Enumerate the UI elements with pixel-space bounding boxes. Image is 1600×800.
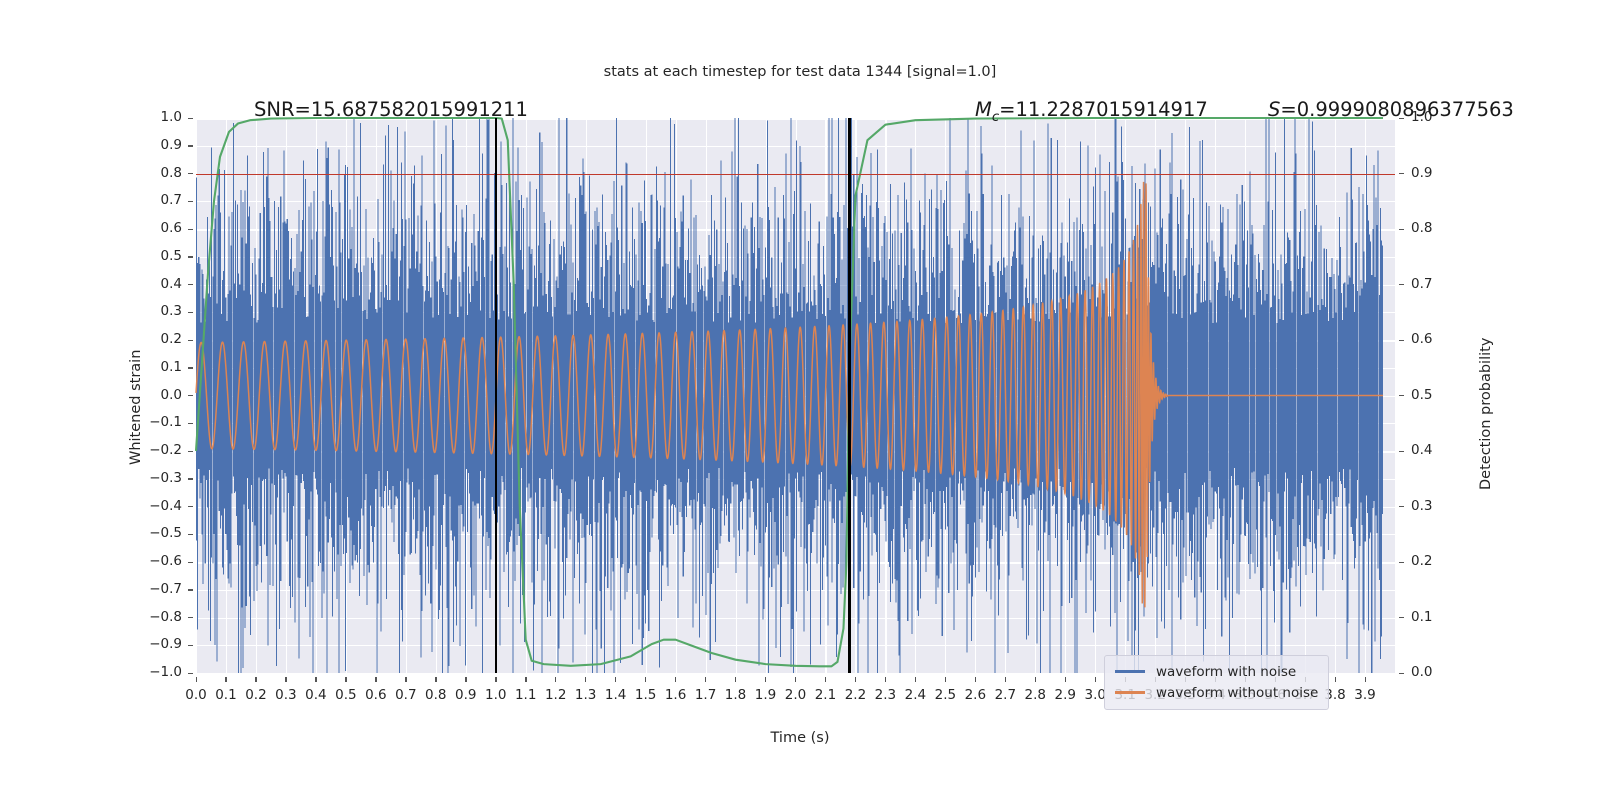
- figure-canvas: stats at each timestep for test data 134…: [0, 0, 1600, 800]
- y-tick-mark-left: [188, 256, 193, 257]
- x-tick-mark: [795, 677, 796, 682]
- y-tick-label-left: 0.8: [134, 165, 182, 181]
- x-tick-mark: [615, 677, 616, 682]
- x-tick-mark: [285, 677, 286, 682]
- x-tick-mark: [885, 677, 886, 682]
- y-tick-mark-right: [1399, 451, 1404, 452]
- x-tick-mark: [975, 677, 976, 682]
- y-tick-mark-left: [188, 284, 193, 285]
- vertical-marker-line: [495, 118, 497, 673]
- y-tick-mark-left: [188, 451, 193, 452]
- y-tick-label-left: 0.6: [134, 220, 182, 236]
- legend-item[interactable]: waveform without noise: [1115, 682, 1318, 703]
- x-tick-mark: [405, 677, 406, 682]
- y-tick-label-left: 0.5: [134, 248, 182, 264]
- y-tick-mark-right: [1399, 173, 1404, 174]
- y-tick-label-left: −0.3: [134, 470, 182, 486]
- x-tick-label: 3.9: [1340, 687, 1390, 703]
- chart-title: stats at each timestep for test data 134…: [0, 64, 1600, 80]
- y-tick-mark-left: [188, 367, 193, 368]
- y-tick-mark-left: [188, 617, 193, 618]
- x-tick-mark: [465, 677, 466, 682]
- y-tick-mark-right: [1399, 617, 1404, 618]
- y-tick-label-left: −0.5: [134, 525, 182, 541]
- y-tick-label-right: 0.1: [1411, 609, 1432, 625]
- y-tick-mark-left: [188, 673, 193, 674]
- x-tick-mark: [255, 677, 256, 682]
- x-tick-mark: [375, 677, 376, 682]
- y-tick-label-left: −0.1: [134, 414, 182, 430]
- y-tick-label-left: −0.8: [134, 609, 182, 625]
- legend-label: waveform with noise: [1156, 664, 1296, 680]
- x-tick-mark: [915, 677, 916, 682]
- x-tick-mark: [345, 677, 346, 682]
- x-tick-mark: [196, 677, 197, 682]
- y-tick-label-left: −0.9: [134, 636, 182, 652]
- y-tick-mark-left: [188, 340, 193, 341]
- y-tick-label-right: 0.0: [1411, 664, 1432, 680]
- y-tick-label-left: 0.1: [134, 359, 182, 375]
- y-tick-label-left: 0.7: [134, 192, 182, 208]
- x-tick-mark: [765, 677, 766, 682]
- x-tick-mark: [675, 677, 676, 682]
- y-tick-label-right: 0.7: [1411, 276, 1432, 292]
- y-tick-mark-left: [188, 395, 193, 396]
- threshold-line: [196, 174, 1395, 176]
- y-tick-mark-left: [188, 145, 193, 146]
- x-tick-mark: [1065, 677, 1066, 682]
- legend-item[interactable]: waveform with noise: [1115, 661, 1318, 682]
- y-tick-mark-left: [188, 229, 193, 230]
- x-tick-mark: [945, 677, 946, 682]
- y-tick-label-right: 0.4: [1411, 442, 1432, 458]
- y-tick-mark-left: [188, 478, 193, 479]
- x-tick-mark: [825, 677, 826, 682]
- y-tick-label-right: 0.3: [1411, 498, 1432, 514]
- x-tick-mark: [645, 677, 646, 682]
- x-tick-mark: [1335, 677, 1336, 682]
- legend-color-swatch: [1115, 670, 1145, 672]
- y-tick-label-left: 0.9: [134, 137, 182, 153]
- y-tick-mark-right: [1399, 562, 1404, 563]
- y-tick-label-left: 0.0: [134, 387, 182, 403]
- vertical-marker-line: [848, 118, 850, 673]
- y-tick-label-right: 0.8: [1411, 220, 1432, 236]
- y-tick-mark-right: [1399, 284, 1404, 285]
- y-tick-mark-left: [188, 506, 193, 507]
- y-tick-label-left: −0.6: [134, 553, 182, 569]
- y-tick-mark-left: [188, 201, 193, 202]
- x-tick-mark: [585, 677, 586, 682]
- x-tick-mark: [735, 677, 736, 682]
- legend-color-swatch: [1115, 691, 1145, 693]
- x-tick-mark: [705, 677, 706, 682]
- x-tick-mark: [1035, 677, 1036, 682]
- y-tick-label-left: 1.0: [134, 109, 182, 125]
- y-tick-mark-left: [188, 534, 193, 535]
- y-tick-mark-left: [188, 645, 193, 646]
- y-tick-mark-left: [188, 173, 193, 174]
- snr-annotation: SNR=15.687582015991211: [254, 98, 528, 121]
- y-tick-label-right: 0.9: [1411, 165, 1432, 181]
- x-tick-mark: [1095, 677, 1096, 682]
- y-tick-mark-right: [1399, 395, 1404, 396]
- y-tick-mark-right: [1399, 340, 1404, 341]
- y-tick-label-left: 0.2: [134, 331, 182, 347]
- x-tick-mark: [555, 677, 556, 682]
- x-tick-mark: [525, 677, 526, 682]
- legend: waveform with noisewaveform without nois…: [1104, 655, 1329, 710]
- x-tick-mark: [435, 677, 436, 682]
- y-tick-label-left: −1.0: [134, 664, 182, 680]
- y-tick-label-left: −0.2: [134, 442, 182, 458]
- x-tick-mark: [855, 677, 856, 682]
- score-annotation: S=0.9999080896377563: [1268, 98, 1514, 121]
- y-tick-label-right: 0.2: [1411, 553, 1432, 569]
- y-tick-mark-right: [1399, 506, 1404, 507]
- x-tick-mark: [1365, 677, 1366, 682]
- y-tick-mark-left: [188, 589, 193, 590]
- y-axis-right-label: Detection probability: [1478, 338, 1494, 490]
- x-tick-mark: [315, 677, 316, 682]
- legend-label: waveform without noise: [1156, 685, 1318, 701]
- plot-curves: [196, 118, 1395, 673]
- y-tick-mark-left: [188, 312, 193, 313]
- y-tick-mark-left: [188, 118, 193, 119]
- y-tick-mark-left: [188, 562, 193, 563]
- y-tick-mark-left: [188, 423, 193, 424]
- y-tick-mark-right: [1399, 673, 1404, 674]
- y-tick-label-left: 0.4: [134, 276, 182, 292]
- x-tick-mark: [1005, 677, 1006, 682]
- x-tick-mark: [495, 677, 496, 682]
- x-axis-label: Time (s): [0, 730, 1600, 746]
- y-tick-label-left: 0.3: [134, 303, 182, 319]
- chirp-mass-annotation: Mc=11.2287015914917: [975, 98, 1208, 125]
- x-tick-mark: [225, 677, 226, 682]
- y-tick-mark-right: [1399, 229, 1404, 230]
- y-tick-label-left: −0.7: [134, 581, 182, 597]
- y-tick-label-right: 0.5: [1411, 387, 1432, 403]
- y-tick-label-right: 0.6: [1411, 331, 1432, 347]
- y-tick-label-left: −0.4: [134, 498, 182, 514]
